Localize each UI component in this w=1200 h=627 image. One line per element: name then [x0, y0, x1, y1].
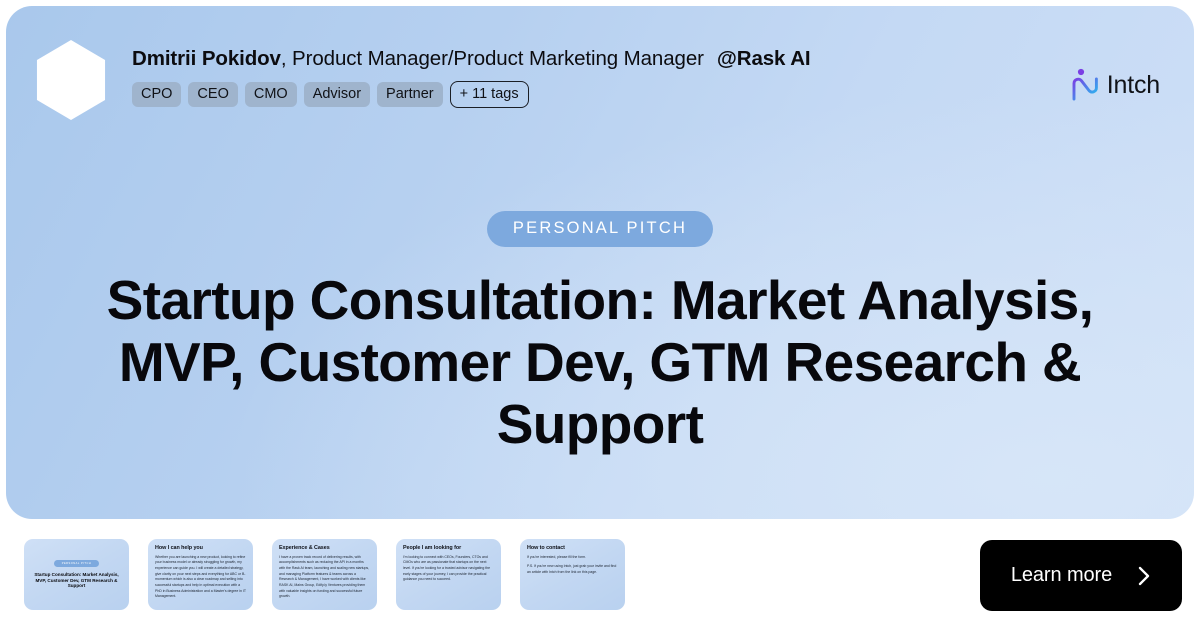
card-title: Experience & Cases — [279, 545, 370, 552]
profile-company: @Rask AI — [717, 47, 811, 70]
profile-text: Dmitrii Pokidov, Product Manager/Product… — [132, 40, 811, 108]
profile-role: , Product Manager/Product Marketing Mana… — [281, 47, 704, 70]
learn-more-label: Learn more — [1011, 564, 1112, 587]
personal-pitch-badge: PERSONAL PITCH — [487, 211, 713, 247]
learn-more-button[interactable]: Learn more — [980, 540, 1182, 611]
hero-panel: Dmitrii Pokidov, Product Manager/Product… — [6, 6, 1194, 519]
preview-card-experience-cases[interactable]: Experience & Cases I have a proven track… — [272, 539, 377, 610]
mini-pitch-badge: PERSONAL PITCH — [54, 560, 100, 567]
more-tags-chip[interactable]: + 11 tags — [450, 81, 529, 109]
intch-n-logo-icon — [1072, 68, 1098, 102]
mini-card-title: Startup Consultation: Market Analysis, M… — [32, 572, 121, 590]
preview-card-people-looking-for[interactable]: People I am looking for I'm looking to c… — [396, 539, 501, 610]
card-paragraph: I have a proven track record of deliveri… — [279, 555, 370, 600]
card-title: How to contact — [527, 545, 618, 552]
hero-title: Startup Consultation: Market Analysis, M… — [86, 269, 1114, 455]
preview-card-how-i-can-help[interactable]: How I can help you Whether you are launc… — [148, 539, 253, 610]
tag-cpo[interactable]: CPO — [132, 82, 181, 108]
tag-partner[interactable]: Partner — [377, 82, 443, 108]
tag-advisor[interactable]: Advisor — [304, 82, 370, 108]
personal-pitch-banner: Dmitrii Pokidov, Product Manager/Product… — [0, 0, 1200, 627]
brand-name: Intch — [1107, 71, 1160, 100]
card-paragraph: Whether you are launching a new product,… — [155, 555, 246, 600]
tag-ceo[interactable]: CEO — [188, 82, 237, 108]
tag-cmo[interactable]: CMO — [245, 82, 297, 108]
card-body: If you're interested, please fill the fo… — [527, 555, 618, 576]
card-paragraph: If you're interested, please fill the fo… — [527, 555, 618, 561]
preview-card-strip: PERSONAL PITCH Startup Consultation: Mar… — [24, 539, 625, 610]
profile-tags: CPO CEO CMO Advisor Partner + 11 tags — [132, 81, 811, 109]
hero-center: PERSONAL PITCH Startup Consultation: Mar… — [6, 211, 1194, 455]
card-body: I'm looking to connect with CEOs, Founde… — [403, 555, 494, 583]
preview-card-how-to-contact[interactable]: How to contact If you're interested, ple… — [520, 539, 625, 610]
card-title: How I can help you — [155, 545, 246, 552]
card-body: I have a proven track record of deliveri… — [279, 555, 370, 600]
hexagon-avatar-placeholder-icon — [34, 40, 108, 120]
preview-card-cover[interactable]: PERSONAL PITCH Startup Consultation: Mar… — [24, 539, 129, 610]
profile-block: Dmitrii Pokidov, Product Manager/Product… — [34, 40, 811, 120]
card-body: Whether you are launching a new product,… — [155, 555, 246, 600]
brand-lockup: Intch — [1072, 68, 1160, 102]
card-paragraph: P.S. If you're new using Intch, just gra… — [527, 564, 618, 575]
card-paragraph: I'm looking to connect with CEOs, Founde… — [403, 555, 494, 583]
chevron-right-icon — [1138, 566, 1151, 586]
card-title: People I am looking for — [403, 545, 494, 552]
profile-headline: Dmitrii Pokidov, Product Manager/Product… — [132, 46, 811, 72]
profile-name: Dmitrii Pokidov — [132, 47, 281, 70]
